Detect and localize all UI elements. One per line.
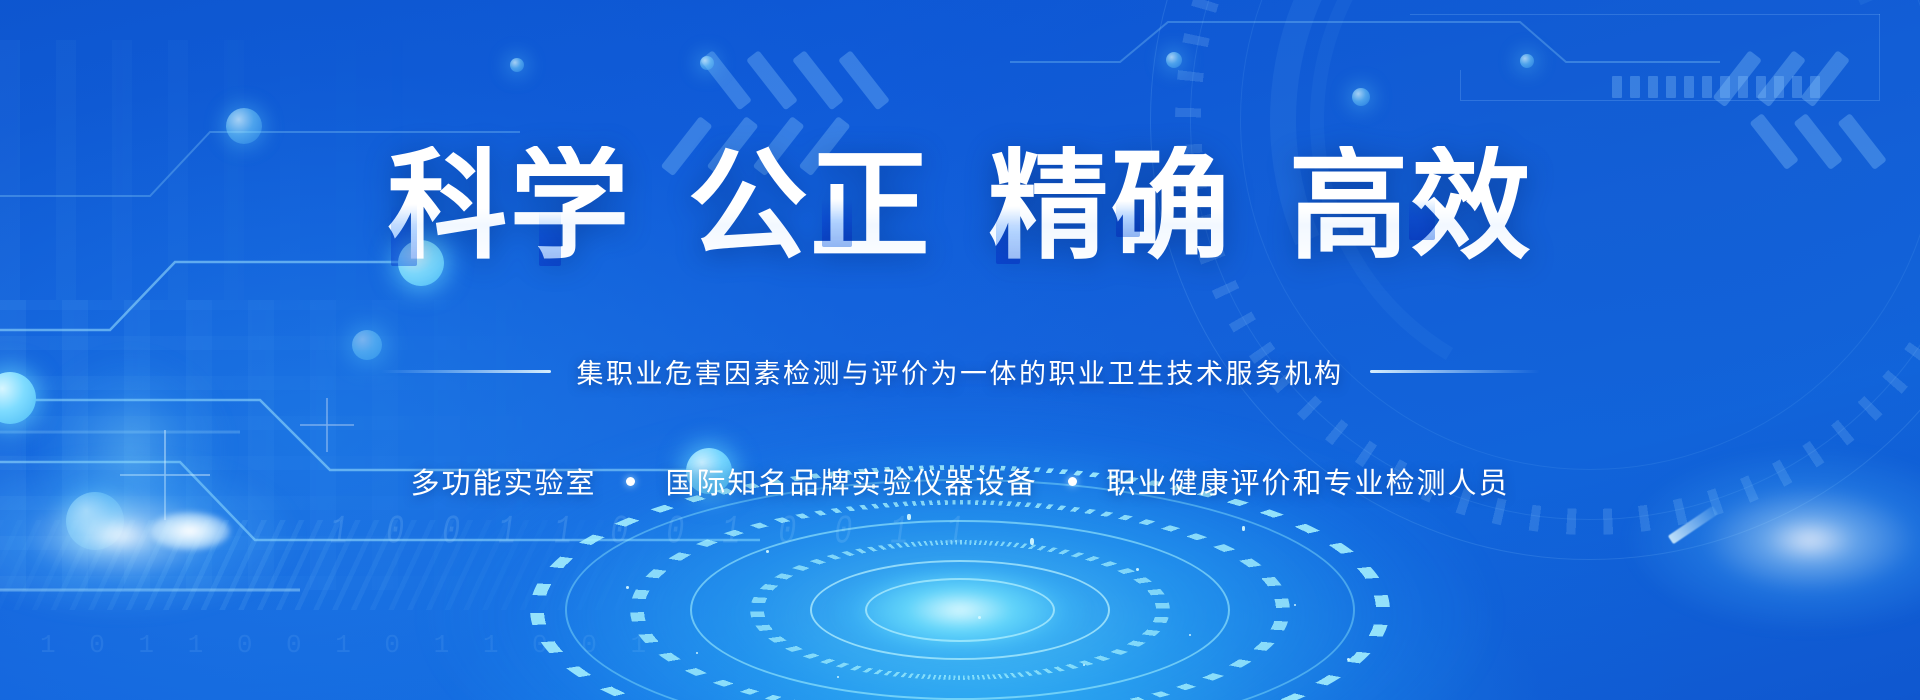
subtitle-rule-right <box>1370 370 1540 373</box>
feature-separator-dot-1 <box>626 477 635 486</box>
subtitle-rule-left <box>381 370 551 373</box>
title-word-2: 公正 <box>688 146 932 266</box>
banner-subtitle-row: 集职业危害因素检测与评价为一体的职业卫生技术服务机构 <box>0 352 1920 391</box>
feature-item-2: 国际知名品牌实验仪器设备 <box>665 460 1037 502</box>
promo-banner: 1 0 0 1 1 0 0 1 0 0 1 1 1 0 1 1 0 0 1 0 … <box>0 0 1920 700</box>
banner-title: 科学 公正 精确 高效 <box>0 146 1920 266</box>
feature-separator-dot-2 <box>1068 477 1077 486</box>
title-word-4: 高效 <box>1289 146 1533 266</box>
title-word-3: 精确 <box>988 146 1232 266</box>
feature-item-3: 职业健康评价和专业检测人员 <box>1107 460 1510 502</box>
title-word-1: 科学 <box>387 146 631 266</box>
banner-feature-row: 多功能实验室 国际知名品牌实验仪器设备 职业健康评价和专业检测人员 <box>0 460 1920 502</box>
banner-content: 科学 公正 精确 高效 集职业危害因素检测与评价为一体的职业卫生技术服务机构 <box>0 0 1920 700</box>
feature-item-1: 多功能实验室 <box>410 460 596 502</box>
banner-subtitle: 集职业危害因素检测与评价为一体的职业卫生技术服务机构 <box>577 352 1344 391</box>
